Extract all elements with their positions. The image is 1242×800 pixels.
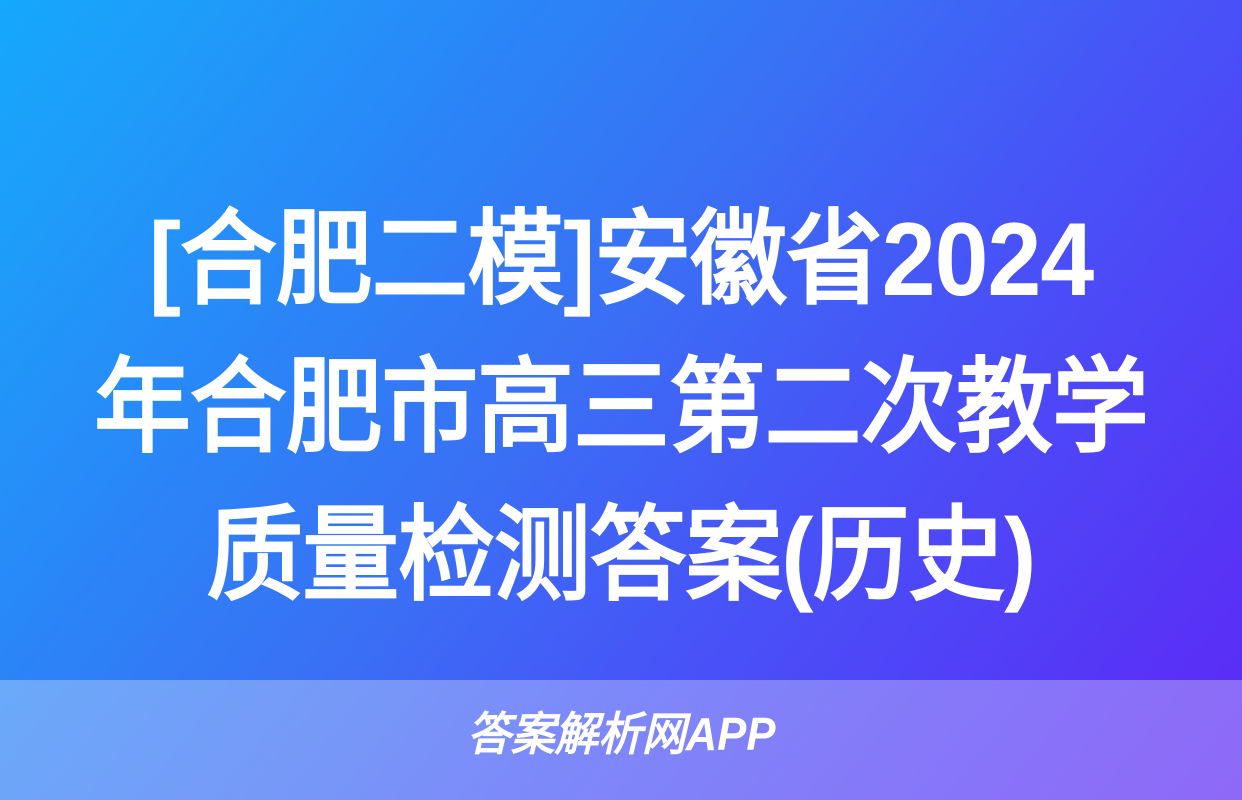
footer-watermark: 答案解析网APP — [0, 706, 1242, 762]
title-line-3: 质量检测答案(历史) — [81, 482, 1162, 630]
poster-canvas: [合肥二模]安徽省2024 年合肥市高三第二次教学 质量检测答案(历史) 答案解… — [0, 0, 1242, 800]
title-line-2: 年合肥市高三第二次教学 — [81, 334, 1162, 482]
footer-watermark-label: 答案解析网APP — [467, 706, 775, 762]
title-line-1: [合肥二模]安徽省2024 — [81, 186, 1162, 334]
poster-title: [合肥二模]安徽省2024 年合肥市高三第二次教学 质量检测答案(历史) — [0, 186, 1242, 630]
